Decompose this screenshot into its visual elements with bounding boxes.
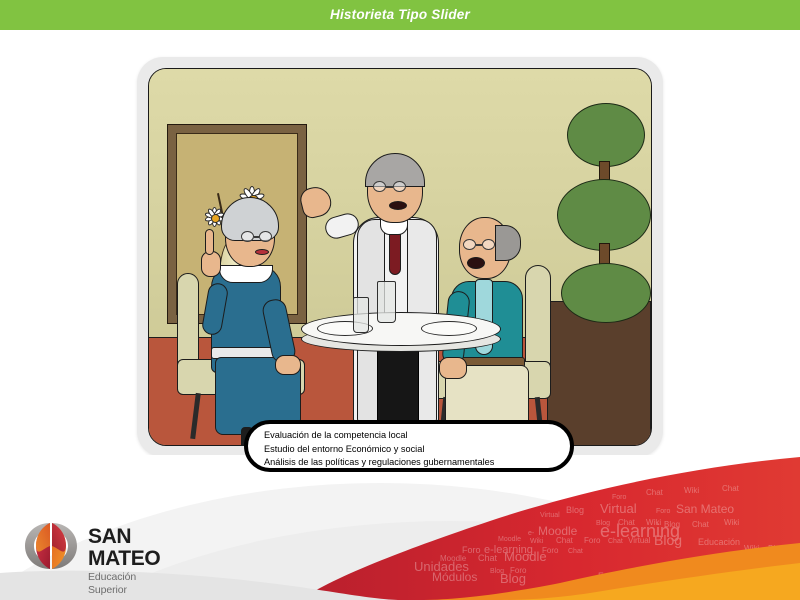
svg-text:Chat: Chat [692, 520, 710, 529]
svg-text:Virtual: Virtual [540, 512, 560, 519]
logo-subtitle: Educación Superior [88, 571, 160, 597]
svg-text:Foro: Foro [612, 494, 627, 501]
speech-bubble-text: Evaluación de la competencia local Estud… [264, 429, 560, 470]
svg-text:San Mateo: San Mateo [676, 502, 734, 516]
logo-text-block: SAN MATEO Educación Superior [88, 526, 160, 597]
tree-foliage [567, 103, 645, 167]
svg-text:Foro: Foro [584, 536, 601, 545]
woman-glasses-lens [241, 231, 254, 242]
speech-line: Estudio del entorno Económico y social [264, 443, 560, 457]
logo-title: SAN MATEO [88, 526, 160, 570]
svg-text:Chat: Chat [722, 484, 740, 493]
slide-canvas: Historieta Tipo Slider [0, 0, 800, 600]
svg-text:Virtual: Virtual [628, 536, 651, 545]
doctor-glasses-lens [373, 181, 386, 192]
woman-hand-resting [275, 355, 301, 375]
plate [421, 321, 477, 336]
man-mouth [467, 257, 485, 269]
doctor-mouth [389, 201, 407, 210]
comic-panel-frame [137, 57, 663, 457]
svg-text:Foro: Foro [656, 508, 671, 515]
woman-glasses-lens [259, 231, 272, 242]
man-glasses-bridge [476, 244, 482, 246]
speech-bubble: Evaluación de la competencia local Estud… [244, 420, 574, 472]
svg-text:Wiki: Wiki [684, 486, 699, 495]
svg-text:Virtual: Virtual [600, 501, 637, 516]
man-glasses-lens [463, 239, 476, 250]
man-glasses-lens [482, 239, 495, 250]
svg-text:Moodle: Moodle [504, 549, 547, 564]
woman-pointing-finger [205, 229, 214, 255]
svg-text:Blog: Blog [566, 505, 584, 515]
svg-text:Blog: Blog [654, 532, 682, 548]
speech-line: Evaluación de la competencia local [264, 429, 560, 443]
svg-text:e-: e- [528, 530, 535, 537]
tree-foliage [561, 263, 651, 323]
svg-text:Chat: Chat [568, 548, 583, 555]
doctor-glasses-bridge [386, 186, 393, 188]
drinking-glass [353, 297, 369, 333]
svg-text:Educación: Educación [698, 537, 740, 547]
man-hand [439, 357, 467, 379]
svg-text:Chat: Chat [608, 538, 623, 545]
woman-glasses-bridge [254, 236, 259, 238]
svg-text:Chat: Chat [646, 488, 664, 497]
svg-text:Moodle: Moodle [498, 536, 521, 543]
comic-scene [148, 68, 652, 446]
svg-text:Chat: Chat [556, 536, 574, 545]
drinking-glass [377, 281, 396, 323]
page-title: Historieta Tipo Slider [0, 0, 800, 30]
san-mateo-infinity-icon [22, 519, 80, 573]
speech-line: Análisis de las políticas y regulaciones… [264, 456, 560, 470]
svg-text:Módulos: Módulos [432, 570, 477, 584]
woman-hand [201, 251, 221, 277]
woman-mouth [255, 249, 269, 255]
svg-text:Chat: Chat [478, 553, 498, 563]
doctor-glasses-lens [393, 181, 406, 192]
woman-collar [219, 265, 273, 283]
tree-foliage [557, 179, 651, 251]
daisy-core [211, 214, 220, 223]
svg-text:Blog: Blog [500, 571, 526, 586]
svg-text:Wiki: Wiki [724, 518, 739, 527]
